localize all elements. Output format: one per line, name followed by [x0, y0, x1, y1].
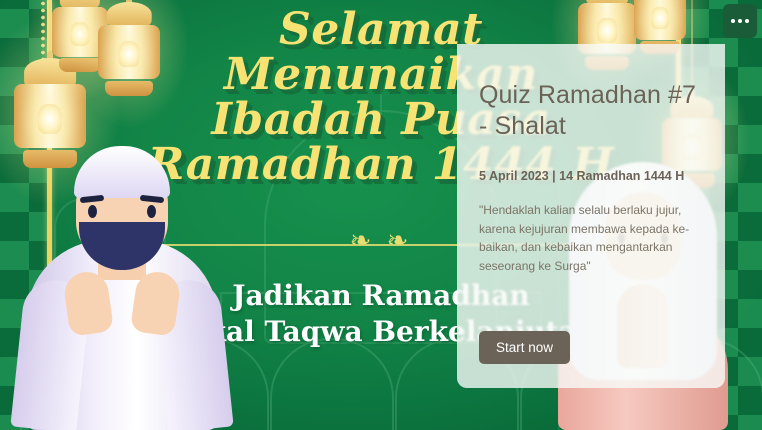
ellipsis-icon	[738, 19, 742, 23]
start-now-button[interactable]: Start now	[479, 331, 570, 365]
arch-decor	[270, 338, 394, 430]
flourish-icon: ❧ ❧	[350, 227, 413, 253]
man-eye-right	[147, 205, 156, 218]
ellipsis-icon	[745, 19, 749, 23]
quiz-title: Quiz Ramadhan #7 - Shalat	[479, 80, 703, 141]
ellipsis-icon	[731, 19, 735, 23]
praying-man-illustration	[22, 130, 222, 430]
man-prayer-cap	[74, 146, 170, 198]
quiz-date: 5 April 2023 | 14 Ramadhan 1444 H	[479, 167, 703, 185]
quiz-banner-screen: Selamat Menunaikan Ibadah Puasa Ramadhan…	[0, 0, 762, 430]
quiz-info-panel: Quiz Ramadhan #7 - Shalat 5 April 2023 |…	[457, 44, 725, 388]
quiz-quote: "Hendaklah kalian selalu berlaku jujur, …	[479, 201, 703, 275]
ellipsis-menu-button[interactable]	[723, 4, 757, 38]
man-eye-left	[88, 205, 97, 218]
